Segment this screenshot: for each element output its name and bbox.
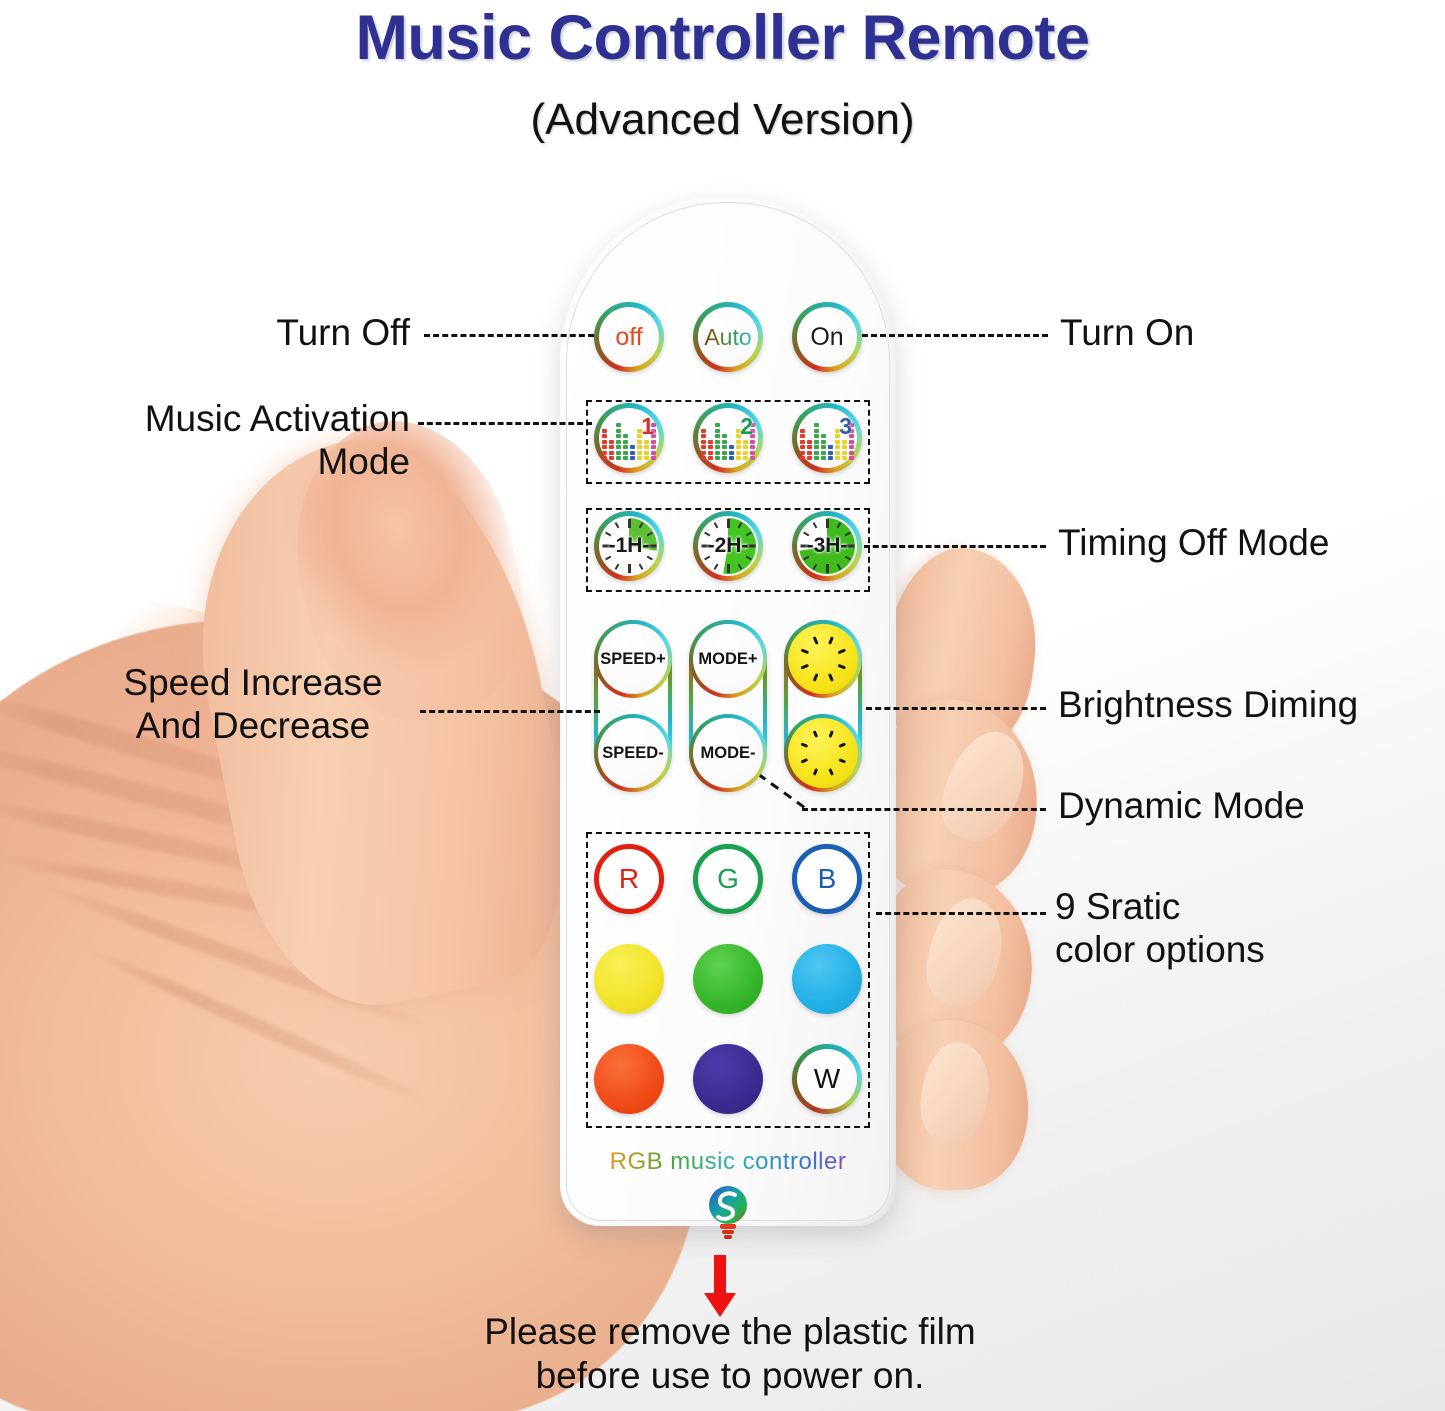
mode-down-label: MODE-: [701, 744, 756, 763]
little-finger: [875, 1017, 1031, 1192]
music-mode-1-button[interactable]: 1: [594, 403, 664, 473]
equalizer-icon: 1: [602, 416, 656, 460]
music-mode-2-button[interactable]: 2: [693, 403, 763, 473]
callout-timing-off: Timing Off Mode: [1058, 522, 1438, 565]
timer-1h-label: -1H-: [601, 518, 657, 574]
color-green-button[interactable]: G: [693, 844, 763, 914]
fingernail: [915, 1038, 994, 1146]
leader-music-activation: [418, 422, 592, 425]
brightness-down-button[interactable]: [784, 714, 862, 792]
callout-speed: Speed Increase And Decrease: [88, 662, 418, 748]
speed-down-button[interactable]: SPEED-: [594, 714, 672, 792]
page-title: Music Controller Remote: [0, 2, 1445, 74]
clock-icon: -3H-: [799, 518, 855, 574]
fingernail: [930, 721, 1039, 852]
speed-down-label: SPEED-: [602, 744, 663, 763]
callout-turn-off: Turn Off: [150, 312, 410, 355]
speed-up-button[interactable]: SPEED+: [594, 620, 672, 698]
power-on-button[interactable]: On: [792, 302, 862, 372]
power-row: off Auto On: [594, 302, 862, 372]
timer-row: -1H- -2H- -3H-: [594, 511, 862, 581]
callout-turn-on: Turn On: [1060, 312, 1390, 355]
color-blue-button[interactable]: B: [792, 844, 862, 914]
color-row-1: R G B: [594, 844, 862, 914]
color-row-3: W: [594, 1044, 862, 1114]
callout-static-colors: 9 Sratic color options: [1055, 886, 1415, 972]
timer-2h-button[interactable]: -2H-: [693, 511, 763, 581]
leader-brightness: [866, 707, 1046, 710]
clock-icon: -1H-: [601, 518, 657, 574]
leader-turn-off: [424, 334, 594, 337]
callout-music-activation: Music Activation Mode: [60, 398, 410, 484]
pill-row: SPEED+ SPEED- MODE+ MODE-: [594, 620, 862, 792]
color-lime-green-button[interactable]: [693, 944, 763, 1014]
fingernail: [918, 891, 1012, 1013]
page-subtitle: (Advanced Version): [0, 95, 1445, 145]
leader-dynamic: [802, 808, 1046, 811]
music-mode-2-label: 2: [740, 413, 753, 440]
mode-down-button[interactable]: MODE-: [689, 714, 767, 792]
color-row-2: [594, 944, 862, 1014]
speed-up-label: SPEED+: [600, 650, 666, 669]
color-white-label: W: [814, 1063, 840, 1095]
equalizer-icon: 3: [800, 416, 854, 460]
mode-up-button[interactable]: MODE+: [689, 620, 767, 698]
color-yellow-button[interactable]: [594, 944, 664, 1014]
mode-pill: MODE+ MODE-: [689, 620, 767, 792]
index-finger: [873, 540, 1047, 762]
power-off-button[interactable]: off: [594, 302, 664, 372]
infographic-canvas: Music Controller Remote (Advanced Versio…: [0, 0, 1445, 1411]
brightness-up-icon: [797, 633, 849, 685]
equalizer-icon: 2: [701, 416, 755, 460]
leader-static-colors: [876, 912, 1046, 915]
mode-up-label: MODE+: [698, 650, 757, 669]
speed-pill: SPEED+ SPEED-: [594, 620, 672, 792]
brightness-down-icon: [797, 727, 849, 779]
music-mode-row: 1 2 3: [594, 403, 862, 473]
auto-mode-label: Auto: [704, 324, 751, 351]
power-off-label: off: [615, 323, 642, 352]
color-cyan-blue-button[interactable]: [792, 944, 862, 1014]
music-mode-1-label: 1: [641, 413, 654, 440]
timer-2h-label: -2H-: [700, 518, 756, 574]
timer-3h-button[interactable]: -3H-: [792, 511, 862, 581]
music-mode-3-label: 3: [839, 413, 852, 440]
callout-brightness: Brightness Diming: [1058, 684, 1445, 727]
music-mode-3-button[interactable]: 3: [792, 403, 862, 473]
color-orange-red-button[interactable]: [594, 1044, 664, 1114]
color-red-label: R: [619, 863, 639, 895]
brightness-up-button[interactable]: [784, 620, 862, 698]
leader-turn-on: [862, 334, 1048, 337]
power-on-label: On: [810, 323, 843, 352]
color-white-button[interactable]: W: [792, 1044, 862, 1114]
color-green-label: G: [717, 863, 739, 895]
brand-text: RGB music controller: [560, 1148, 896, 1176]
remote-control-body: off Auto On 1 2 3: [560, 196, 896, 1226]
timer-3h-label: -3H-: [799, 518, 855, 574]
leader-speed: [420, 710, 600, 713]
leader-timing-off: [864, 545, 1046, 548]
footer-note: Please remove the plastic film before us…: [430, 1310, 1030, 1397]
color-indigo-button[interactable]: [693, 1044, 763, 1114]
auto-mode-button[interactable]: Auto: [693, 302, 763, 372]
brightness-pill: [784, 620, 862, 792]
bulb-s-logo-icon: [705, 1184, 751, 1240]
timer-1h-button[interactable]: -1H-: [594, 511, 664, 581]
clock-icon: -2H-: [700, 518, 756, 574]
color-red-button[interactable]: R: [594, 844, 664, 914]
callout-dynamic: Dynamic Mode: [1058, 785, 1398, 828]
color-blue-label: B: [818, 863, 837, 895]
